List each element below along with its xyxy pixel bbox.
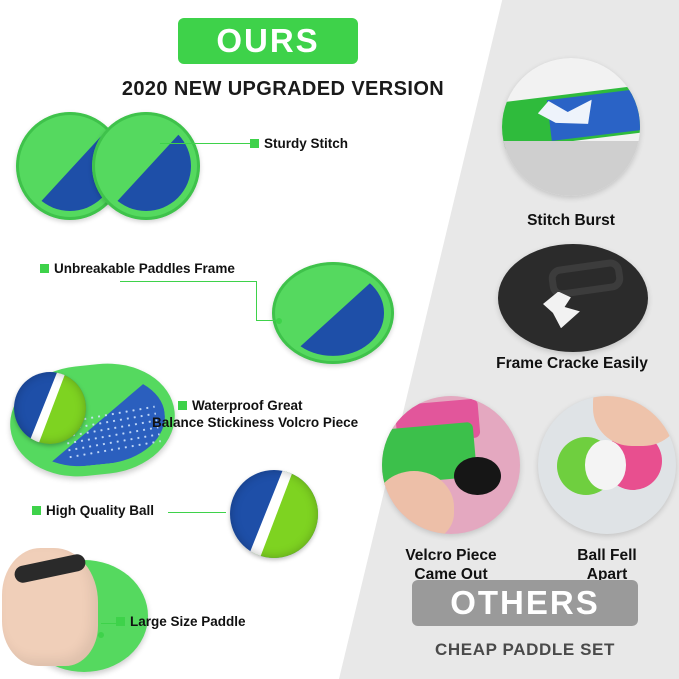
caption-ball-fell-apart: Ball Fell Apart [536,547,678,584]
bullet-square-icon [116,617,125,626]
ours-subtitle: 2020 NEW UPGRADED VERSION [108,78,458,101]
bullet-square-icon [32,506,41,515]
label-waterproof-velcro: Waterproof Great Balance Stickiness Volc… [178,398,358,432]
bullet-square-icon [178,401,187,410]
others-badge: OTHERS [412,580,638,626]
photo-velcro-piece-came-out [382,396,520,534]
photo-ball-fell-apart [538,396,676,534]
pointer-dot-large-paddle [98,632,104,638]
paddle-rim [92,112,200,220]
label-text-line1: Waterproof Great [192,398,303,415]
leader-line-frame [120,281,256,282]
label-text: Large Size Paddle [130,614,246,631]
caption-velcro-piece-came-out: Velcro Piece Came Out [378,547,524,584]
ball-shading [230,470,318,558]
ball-on-paddle [14,372,86,444]
ball-white-core [585,440,626,490]
label-sturdy-stitch: Sturdy Stitch [250,136,348,153]
label-unbreakable-frame: Unbreakable Paddles Frame [40,261,235,278]
label-large-size-paddle: Large Size Paddle [116,614,246,631]
label-high-quality-ball: High Quality Ball [32,503,154,520]
ours-badge: OURS [178,18,358,64]
pointer-dot-frame [276,318,282,324]
photo-frame-cracke-easily [498,244,648,352]
caption-line1: Velcro Piece [378,547,524,566]
label-text: Sturdy Stitch [264,136,348,153]
leader-line-frame-vertical [256,281,257,321]
photo-stitch-burst [502,58,640,196]
paddle-top-left-front [92,112,200,220]
paddle-rim [272,262,394,364]
caption-frame-cracke-easily: Frame Cracke Easily [452,355,679,374]
label-text: High Quality Ball [46,503,154,520]
caption-stitch-burst: Stitch Burst [490,212,652,231]
leader-line-ball [168,512,226,513]
ball-shading [14,372,86,444]
label-text: Unbreakable Paddles Frame [54,261,235,278]
detached-velcro-piece [454,457,501,496]
label-text-line2: Balance Stickiness Volcro Piece [152,415,358,430]
bullet-square-icon [250,139,259,148]
ours-badge-label: OURS [216,22,319,60]
photo-bg [498,244,648,352]
product-comparison-image: OURS 2020 NEW UPGRADED VERSION Sturdy St… [0,0,679,679]
others-badge-label: OTHERS [450,584,600,622]
others-subtitle: CHEAP PADDLE SET [400,640,650,660]
caption-line1: Ball Fell [536,547,678,566]
bullet-square-icon [40,264,49,273]
ball-high-quality [230,470,318,558]
photo-shadow [502,141,640,196]
paddle-frame-closeup [272,262,394,364]
leader-line-frame-tail [256,320,278,321]
leader-line-sturdy-stitch [160,143,252,144]
